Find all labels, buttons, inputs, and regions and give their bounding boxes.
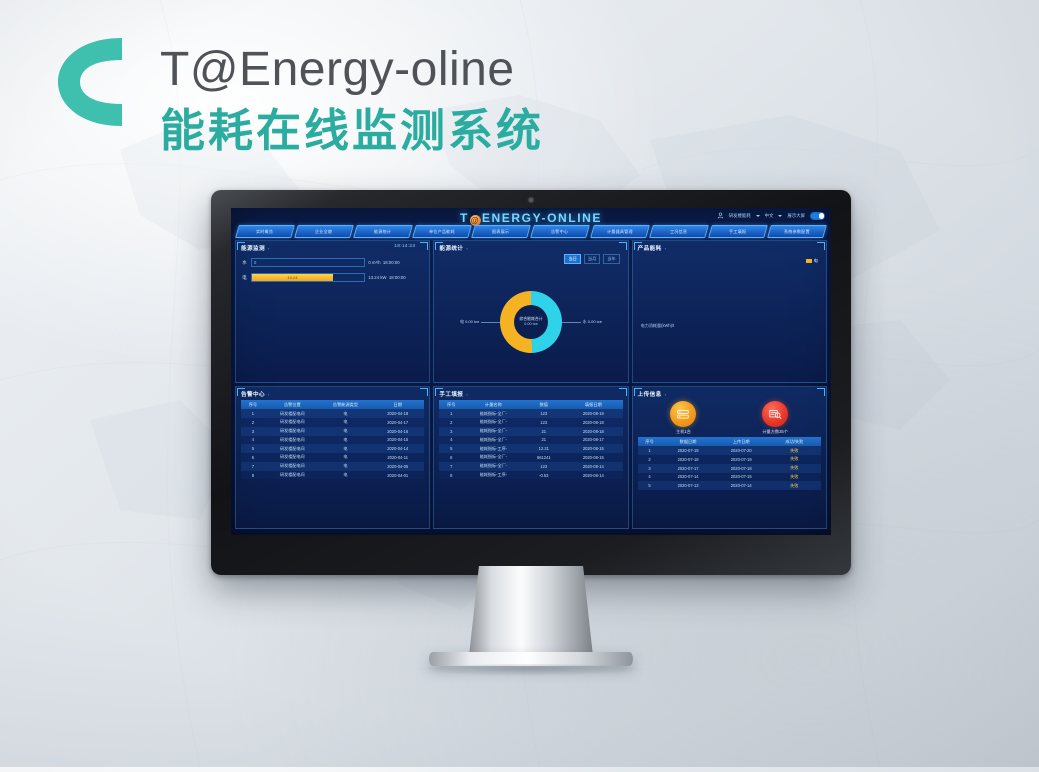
cell: 2020-07-15 — [715, 473, 768, 482]
table-row[interactable]: 2研发楼配电间电2020-04-17 — [241, 418, 424, 427]
cell: 电 — [320, 409, 371, 418]
cell: 能耗指标-工序- — [463, 444, 523, 453]
cell: 5 — [638, 481, 662, 490]
language-label[interactable]: 中文 — [765, 213, 774, 219]
user-icon — [717, 212, 724, 219]
cell: 3 — [638, 464, 662, 473]
table-row[interactable]: 5能耗指标-工序-12.212020-08-15 — [439, 444, 622, 453]
cell: 8 — [439, 471, 463, 480]
status-badge: 失败 — [768, 473, 821, 482]
cell: 7 — [241, 462, 265, 471]
panel-title-text: 告警中心 — [241, 390, 265, 398]
cell: 研发楼配电间 — [265, 427, 320, 436]
cell: 2020-07-20 — [715, 446, 768, 455]
panel-energy-stats: 能源统计 › 当日 当月 当年 电 0.00 tce 水 0.00 tce — [433, 240, 628, 383]
cell: 6 — [439, 453, 463, 462]
cell: 2020-08-14 — [564, 471, 623, 480]
nav-item-4[interactable]: 报表展示 — [472, 225, 532, 238]
table-row[interactable]: 42020-07-142020-07-15失败 — [638, 473, 821, 482]
panel-title-text: 能源统计 — [439, 244, 463, 252]
donut-center-value: 0.00 tce — [524, 322, 538, 327]
table-row[interactable]: 2能耗指标-全厂-1232020-08-18 — [439, 418, 622, 427]
table-row[interactable]: 12020-07-192020-07-20失败 — [638, 446, 821, 455]
alarm-table-header: 序号 告警位置 告警能源类型 日期 — [241, 400, 424, 409]
energy-bar-label-power: 电 — [241, 275, 248, 281]
power-reading: 13.24 kW — [368, 275, 386, 280]
water-time: 18:00:00 — [383, 260, 400, 265]
manual-col-1: 计量名称 — [463, 400, 523, 409]
webcam-icon — [529, 198, 533, 202]
cell: 2020-08-15 — [564, 444, 623, 453]
cell: 2020-04-14 — [371, 444, 424, 453]
nav-label-9: 系统参数配置 — [784, 226, 810, 237]
cell: 能耗指标-全厂- — [463, 418, 523, 427]
manual-col-3: 填报日期 — [564, 400, 623, 409]
energy-bar-fill-power: 13.24 — [252, 274, 333, 281]
panel-title-text: 产品能耗 — [638, 244, 662, 252]
power-time: 18:00:00 — [389, 275, 406, 280]
cell: 2020-08-19 — [564, 409, 623, 418]
energy-bar-track-water: 0 — [251, 258, 365, 267]
legend-label-power: 电 — [814, 258, 818, 264]
bigscreen-toggle[interactable] — [810, 212, 825, 220]
cell: 2020-04-18 — [371, 409, 424, 418]
panel-product-energy: 产品能耗 › 电 电力消耗量(kWh)/t — [632, 240, 827, 383]
nav-label-3: 单位产品能耗 — [429, 226, 455, 237]
cell: 2020-08-15 — [564, 453, 623, 462]
table-row[interactable]: 3研发楼配电间电2020-04-16 — [241, 427, 424, 436]
table-row[interactable]: 5研发楼配电间电2020-04-14 — [241, 444, 424, 453]
nav-label-4: 报表展示 — [493, 226, 510, 237]
cell: 1 — [439, 409, 463, 418]
nav-item-6[interactable]: 计量器具管理 — [590, 225, 650, 238]
dashboard: T@ENERGY-ONLINE 研发楼能耗 中文 展示大屏 实时概览 — [231, 208, 831, 535]
status-badge: 失败 — [768, 455, 821, 464]
nav-item-7[interactable]: 工况信息 — [649, 225, 709, 238]
cell: 2020-07-14 — [661, 473, 714, 482]
cell: 2020-08-17 — [564, 436, 623, 445]
cell: 2020-07-13 — [661, 481, 714, 490]
cell: 12.21 — [524, 444, 564, 453]
cell: 21 — [524, 436, 564, 445]
cell: 2 — [439, 418, 463, 427]
cell: 2 — [638, 455, 662, 464]
table-row[interactable]: 7能耗指标-全厂-1232020-08-14 — [439, 462, 622, 471]
cell: 3 — [241, 427, 265, 436]
table-row[interactable]: 6研发楼配电间电2020-04-11 — [241, 453, 424, 462]
more-icon[interactable]: › — [268, 246, 270, 251]
monitor-base-shadow — [413, 664, 649, 676]
chevron-down-icon-2[interactable] — [778, 215, 782, 217]
panel-title-manual-entry: 手工填报 › — [439, 390, 622, 398]
cell: 2020-07-18 — [715, 464, 768, 473]
cell: 123 — [524, 418, 564, 427]
system-title-left: T — [460, 211, 469, 225]
status-badge: 失败 — [768, 446, 821, 455]
cell: 2020-08-14 — [564, 462, 623, 471]
more-icon[interactable]: › — [665, 246, 667, 251]
monitor: T@ENERGY-ONLINE 研发楼能耗 中文 展示大屏 实时概览 — [211, 190, 851, 575]
cell: 1 — [241, 409, 265, 418]
alarm-col-2: 告警能源类型 — [320, 400, 371, 409]
energy-bar-track-power: 13.24 — [251, 273, 365, 282]
cell: 5 — [439, 444, 463, 453]
system-title: T@ENERGY-ONLINE — [460, 211, 602, 226]
more-icon[interactable]: › — [665, 392, 667, 397]
table-row[interactable]: 32020-07-172020-07-18失败 — [638, 464, 821, 473]
nav-item-0[interactable]: 实时概览 — [235, 225, 295, 238]
table-row[interactable]: 8能耗指标-工序--0.532020-08-14 — [439, 471, 622, 480]
cell: 2 — [241, 418, 265, 427]
panel-title-text: 能源监测 — [241, 244, 265, 252]
cell: 电 — [320, 471, 371, 480]
server-host-icon — [670, 401, 696, 427]
nav-item-1[interactable]: 企业全貌 — [294, 225, 354, 238]
cell: 4 — [439, 436, 463, 445]
cell: 2020-08-18 — [564, 427, 623, 436]
cell: 能耗指标-工序- — [463, 471, 523, 480]
panel-upload-info: 上传信息 › — [632, 386, 827, 529]
cell: 3 — [439, 427, 463, 436]
energy-bar-value-water: 0 — [254, 259, 256, 266]
dashboard-topbar: T@ENERGY-ONLINE 研发楼能耗 中文 展示大屏 — [231, 208, 831, 225]
cell: 8 — [241, 471, 265, 480]
panel-title-upload-info: 上传信息 › — [638, 390, 821, 398]
cell: -0.53 — [524, 471, 564, 480]
cell: 6 — [241, 453, 265, 462]
manual-entry-table-body: 1能耗指标-全厂-1232020-08-19 2能耗指标-全厂-1232020-… — [439, 409, 622, 479]
cell: 研发楼配电间 — [265, 471, 320, 480]
manual-col-0: 序号 — [439, 400, 463, 409]
upload-stat-host: 主机1台 — [670, 401, 696, 435]
panel-title-text: 上传信息 — [638, 390, 662, 398]
cell: 1 — [638, 446, 662, 455]
monitor-screen: T@ENERGY-ONLINE 研发楼能耗 中文 展示大屏 实时概览 — [231, 208, 831, 535]
energy-bar-value-power: 13.24 — [287, 275, 297, 280]
alarm-col-0: 序号 — [241, 400, 265, 409]
dashboard-grid: 能源监测 › 18:14:23 水 0 0 m³/h 18:00:00 电 — [231, 237, 831, 533]
donut-center-text: 综合能耗合计 0.00 tce — [439, 254, 622, 383]
alarm-table-body: 1研发楼配电间电2020-04-18 2研发楼配电间电2020-04-17 3研… — [241, 409, 424, 479]
nav-label-6: 计量器具管理 — [607, 226, 633, 237]
energy-bar-label-water: 水 — [241, 260, 248, 266]
cell: 研发楼配电间 — [265, 453, 320, 462]
cell: 能耗指标-全厂- — [463, 436, 523, 445]
upload-col-3: 成功/失败 — [768, 437, 821, 446]
donut-chart: 电 0.00 tce 水 0.00 tce 综合能耗合计 0.00 tce — [439, 254, 622, 383]
energy-bar-row-water: 水 0 0 m³/h 18:00:00 — [241, 258, 424, 267]
main-nav: 实时概览 企业全貌 能源统计 单位产品能耗 报表展示 告警中心 计量器具管理 工… — [231, 225, 831, 237]
panel-title-text: 手工填报 — [439, 390, 463, 398]
panel-title-alarm-center: 告警中心 › — [241, 390, 424, 398]
status-badge: 失败 — [768, 481, 821, 490]
cell: 研发楼配电间 — [265, 418, 320, 427]
table-row[interactable]: 7研发楼配电间电2020-04-05 — [241, 462, 424, 471]
nav-label-8: 手工填报 — [729, 226, 746, 237]
cell: 2020-07-19 — [661, 446, 714, 455]
monitor-neck — [469, 566, 593, 656]
system-title-right: ENERGY-ONLINE — [482, 211, 602, 225]
upload-table: 序号 数据日期 上传日期 成功/失败 12020-07-192020-07-20… — [638, 437, 821, 490]
energy-bar-reading-power: 13.24 kW 18:00:00 — [368, 275, 424, 280]
cell: 2020-04-05 — [371, 462, 424, 471]
cell: 2020-04-15 — [371, 436, 424, 445]
meter-search-icon — [762, 401, 788, 427]
cell: 2020-08-18 — [564, 418, 623, 427]
nav-label-5: 告警中心 — [552, 226, 569, 237]
table-row[interactable]: 4研发楼配电间电2020-04-15 — [241, 436, 424, 445]
cell: 能耗指标-全厂- — [463, 462, 523, 471]
cell: 电 — [320, 444, 371, 453]
cell: 能耗指标-全厂- — [463, 453, 523, 462]
nav-item-9[interactable]: 系统参数配置 — [767, 225, 827, 238]
status-badge: 失败 — [768, 464, 821, 473]
cell: 电 — [320, 436, 371, 445]
cell: 研发楼配电间 — [265, 436, 320, 445]
upload-table-body: 12020-07-192020-07-20失败 22020-07-182020-… — [638, 446, 821, 490]
cell: 7 — [439, 462, 463, 471]
c-arc-logo-icon — [52, 30, 126, 134]
nav-label-1: 企业全貌 — [316, 226, 333, 237]
cell: 561241 — [524, 453, 564, 462]
upload-col-2: 上传日期 — [715, 437, 768, 446]
nav-item-5[interactable]: 告警中心 — [531, 225, 591, 238]
more-icon[interactable]: › — [268, 392, 270, 397]
cell: 21 — [524, 427, 564, 436]
nav-item-2[interactable]: 能源统计 — [353, 225, 413, 238]
nav-item-8[interactable]: 手工填报 — [708, 225, 768, 238]
panel-title-product-energy: 产品能耗 › — [638, 244, 821, 252]
table-row[interactable]: 8研发楼配电间电2020-04-01 — [241, 471, 424, 480]
table-row[interactable]: 52020-07-132020-07-14失败 — [638, 481, 821, 490]
cell: 2020-04-11 — [371, 453, 424, 462]
cell: 5 — [241, 444, 265, 453]
user-name: 研发楼能耗 — [729, 213, 751, 219]
nav-label-2: 能源统计 — [375, 226, 392, 237]
cell: 2020-07-18 — [661, 455, 714, 464]
nav-label-0: 实时概览 — [256, 226, 273, 237]
cell: 能耗指标-全厂- — [463, 427, 523, 436]
panel-alarm-center: 告警中心 › 序号 告警位置 告警能源类型 日期 1研发楼配电间电2020-04… — [235, 386, 430, 529]
bigscreen-label: 展示大屏 — [787, 213, 805, 219]
manual-col-2: 数值 — [524, 400, 564, 409]
user-area[interactable]: 研发楼能耗 中文 展示大屏 — [717, 212, 825, 220]
legend-swatch-power — [806, 259, 812, 263]
panel-title-energy-stats: 能源统计 › — [439, 244, 622, 252]
cell: 2020-04-17 — [371, 418, 424, 427]
poster-headline: T@Energy-oline 能耗在线监测系统 — [52, 24, 612, 154]
table-row[interactable]: 1能耗指标-全厂-1232020-08-19 — [439, 409, 622, 418]
panel-manual-entry: 手工填报 › 序号 计量名称 数值 填报日期 1能耗指标-全厂-1232020-… — [433, 386, 628, 529]
cell: 电 — [320, 418, 371, 427]
upload-stat-meter: 计量方数25个 — [762, 401, 788, 435]
cell: 2020-07-14 — [715, 481, 768, 490]
manual-entry-table-header: 序号 计量名称 数值 填报日期 — [439, 400, 622, 409]
cell: 电 — [320, 462, 371, 471]
clock-readout: 18:14:23 — [394, 244, 415, 249]
cell: 2020-04-16 — [371, 427, 424, 436]
cell: 研发楼配电间 — [265, 462, 320, 471]
cell: 4 — [241, 436, 265, 445]
table-row[interactable]: 22020-07-182020-07-19失败 — [638, 455, 821, 464]
alarm-col-1: 告警位置 — [265, 400, 320, 409]
upload-stat-meter-label: 计量方数25个 — [762, 429, 788, 435]
product-energy-yaxis-label: 电力消耗量(kWh)/t — [641, 323, 675, 329]
alarm-table: 序号 告警位置 告警能源类型 日期 1研发楼配电间电2020-04-18 2研发… — [241, 400, 424, 479]
upload-col-1: 数据日期 — [661, 437, 714, 446]
cell: 研发楼配电间 — [265, 409, 320, 418]
cell: 4 — [638, 473, 662, 482]
table-row[interactable]: 4能耗指标-全厂-212020-08-17 — [439, 436, 622, 445]
water-reading: 0 m³/h — [368, 260, 380, 265]
cell: 2020-07-17 — [661, 464, 714, 473]
cell: 能耗指标-全厂- — [463, 409, 523, 418]
product-energy-legend: 电 — [806, 258, 818, 264]
cell: 2020-07-19 — [715, 455, 768, 464]
cell: 2020-04-01 — [371, 471, 424, 480]
brand-title-en: T@Energy-oline — [160, 46, 515, 94]
brand-title-cn: 能耗在线监测系统 — [160, 108, 544, 153]
cell: 研发楼配电间 — [265, 444, 320, 453]
energy-bar-row-power: 电 13.24 13.24 kW 18:00:00 — [241, 273, 424, 282]
panel-energy-monitor: 能源监测 › 18:14:23 水 0 0 m³/h 18:00:00 电 — [235, 240, 430, 383]
chevron-down-icon[interactable] — [756, 215, 760, 217]
more-icon[interactable]: › — [466, 392, 468, 397]
cell: 123 — [524, 462, 564, 471]
cell: 123 — [524, 409, 564, 418]
nav-label-7: 工况信息 — [670, 226, 687, 237]
manual-entry-table: 序号 计量名称 数值 填报日期 1能耗指标-全厂-1232020-08-19 2… — [439, 400, 622, 479]
cell: 电 — [320, 427, 371, 436]
table-row[interactable]: 3能耗指标-全厂-212020-08-18 — [439, 427, 622, 436]
upload-stat-icons: 主机1台 计量方数25个 — [638, 401, 821, 435]
more-icon[interactable]: › — [466, 246, 468, 251]
alarm-col-3: 日期 — [371, 400, 424, 409]
table-row[interactable]: 6能耗指标-全厂-5612412020-08-15 — [439, 453, 622, 462]
upload-table-header: 序号 数据日期 上传日期 成功/失败 — [638, 437, 821, 446]
upload-stat-host-label: 主机1台 — [670, 429, 696, 435]
energy-bar-reading-water: 0 m³/h 18:00:00 — [368, 260, 424, 265]
upload-col-0: 序号 — [638, 437, 662, 446]
cell: 电 — [320, 453, 371, 462]
nav-item-3[interactable]: 单位产品能耗 — [412, 225, 472, 238]
table-row[interactable]: 1研发楼配电间电2020-04-18 — [241, 409, 424, 418]
